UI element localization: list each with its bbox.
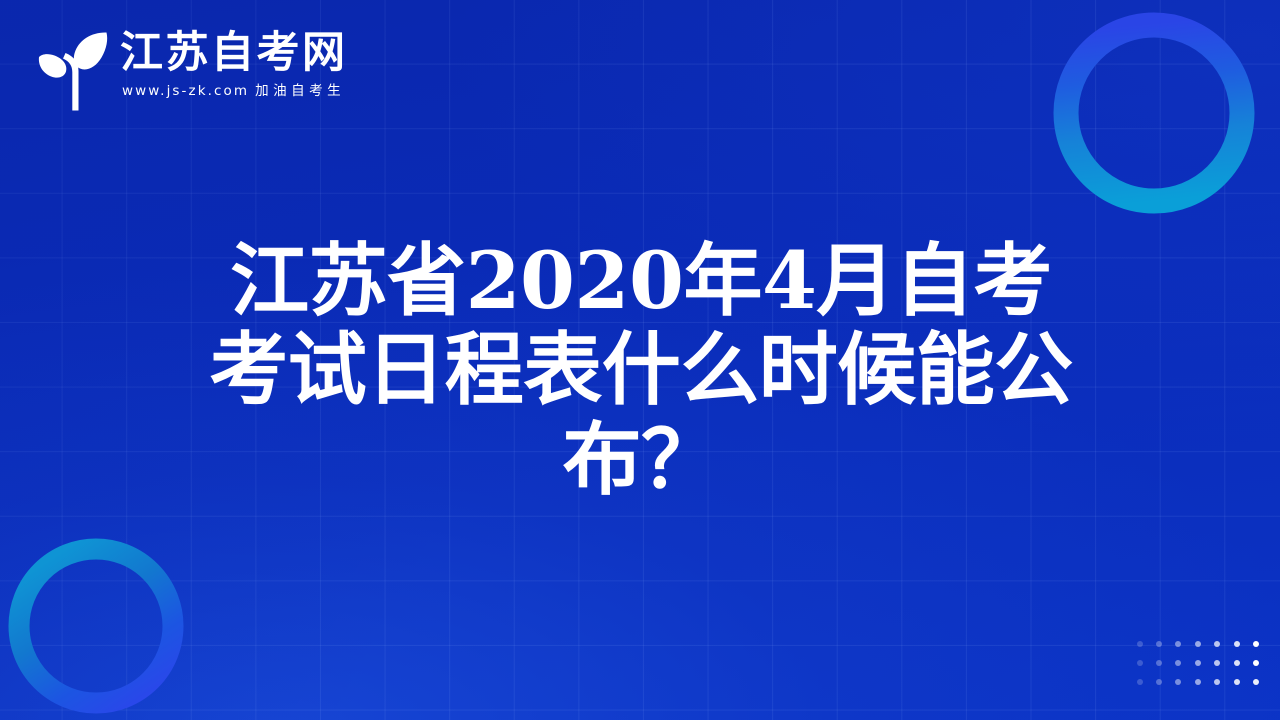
- dot: [1137, 641, 1143, 647]
- dot: [1214, 679, 1220, 685]
- dot: [1175, 679, 1181, 685]
- dot: [1195, 660, 1201, 666]
- gradient-ring-bottom-left: [8, 538, 184, 714]
- logo-tagline-slogan: 加油自考生: [255, 83, 345, 99]
- page-title: 江苏省2020年4月自考考试日程表什么时候能公布？: [196, 236, 1086, 504]
- dot: [1137, 679, 1143, 685]
- dot: [1214, 660, 1220, 666]
- dot: [1195, 641, 1201, 647]
- dot: [1195, 679, 1201, 685]
- dot: [1175, 660, 1181, 666]
- dot-grid-decoration: [1130, 634, 1266, 692]
- dot: [1156, 679, 1162, 685]
- logo-tagline: www.js-zk.com加油自考生: [120, 85, 348, 99]
- logo-wordmark: 江苏自考网: [120, 32, 348, 75]
- dot: [1156, 660, 1162, 666]
- dot: [1253, 679, 1259, 685]
- dot: [1137, 660, 1143, 666]
- site-logo[interactable]: 江苏自考网 www.js-zk.com加油自考生: [34, 24, 348, 120]
- poster-canvas: 江苏自考网 www.js-zk.com加油自考生 江苏省2020年4月自考考试日…: [0, 0, 1280, 720]
- dot: [1253, 641, 1259, 647]
- logo-tagline-url: www.js-zk.com: [122, 83, 249, 99]
- dot: [1234, 641, 1240, 647]
- dot: [1234, 660, 1240, 666]
- logo-text-block: 江苏自考网 www.js-zk.com加油自考生: [120, 24, 348, 99]
- dot: [1214, 641, 1220, 647]
- dot: [1175, 641, 1181, 647]
- gradient-ring-top-right: [1053, 12, 1255, 214]
- dot: [1156, 641, 1162, 647]
- sprout-icon: [34, 24, 118, 116]
- dot: [1234, 679, 1240, 685]
- dot: [1253, 660, 1259, 666]
